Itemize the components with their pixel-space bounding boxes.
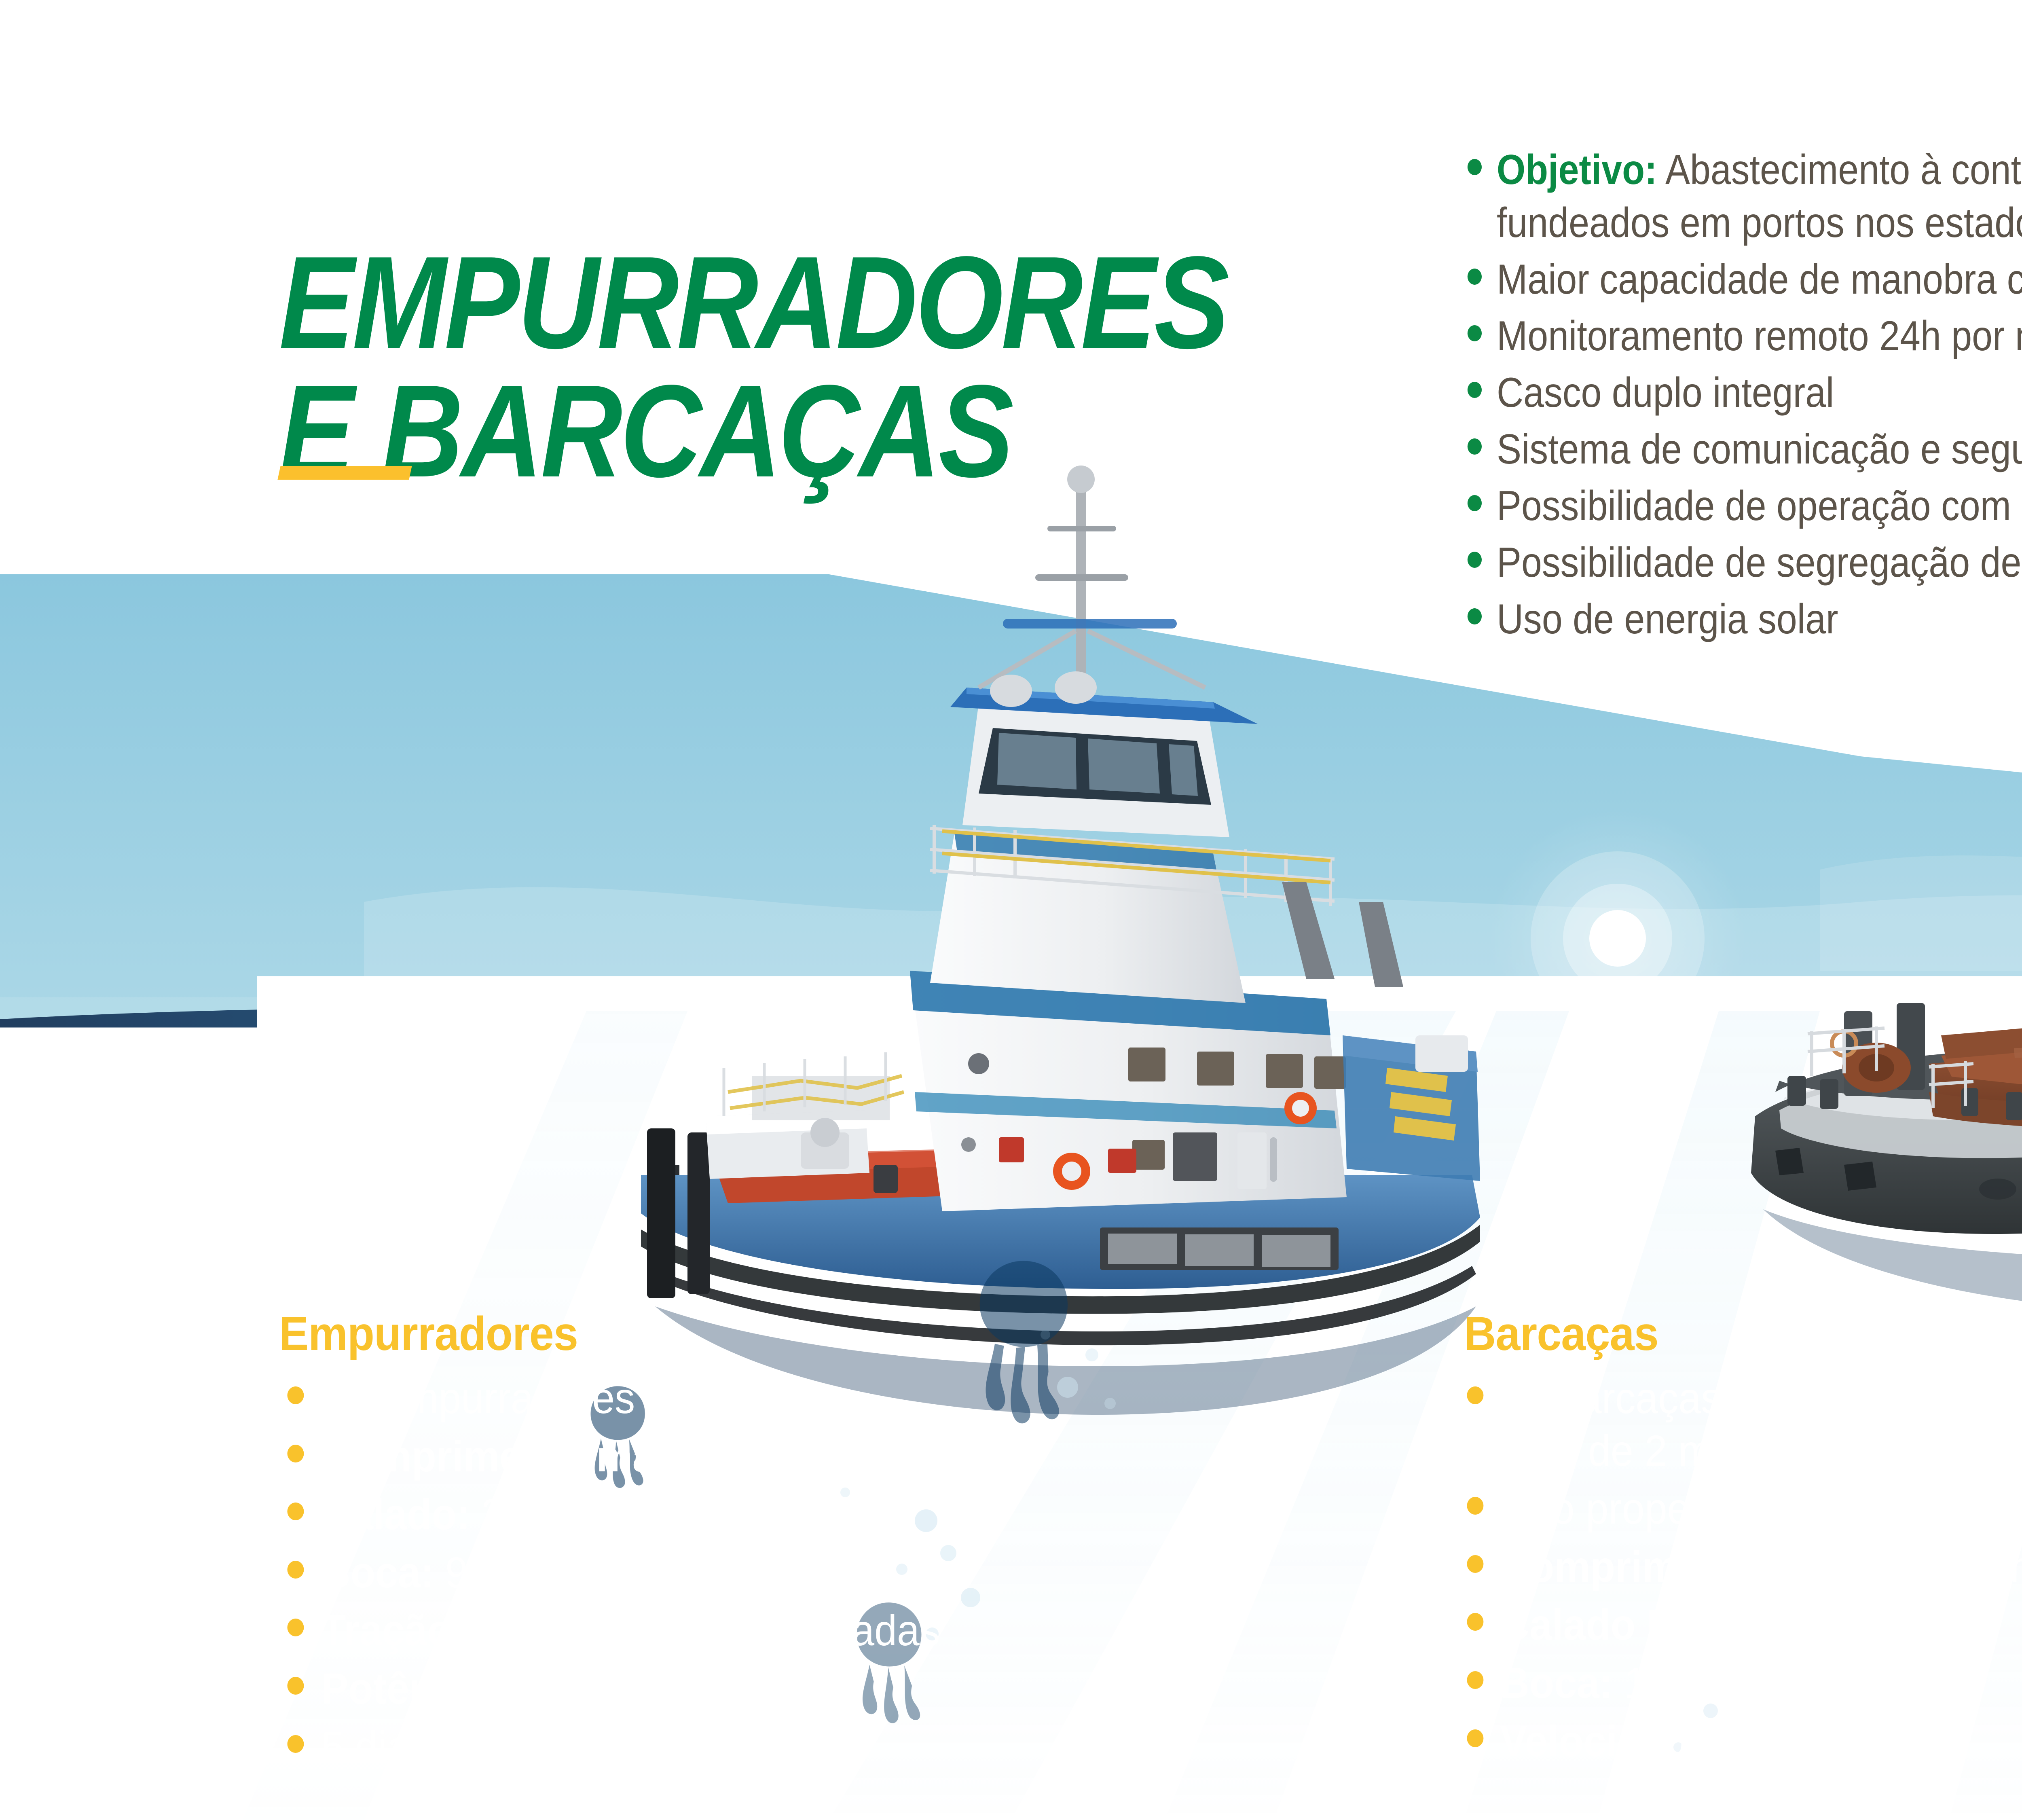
feature-item: Maior capacidade de manobra com menor co… [1464,253,2022,306]
bullet-dot-icon [1468,438,1482,455]
spec-item: Não propelidas [1464,1482,2022,1535]
feature-list: Objetivo: Abastecimento à contrabordo (b… [1464,144,2022,650]
bullet-dot-icon [1467,1613,1483,1631]
feature-item: Monitoramento remoto 24h por meio de GPS [1464,310,2022,363]
bullet-dot-icon [1468,608,1482,624]
feature-item: Casco duplo integral [1464,366,2022,419]
spec-item: 18 Empurradores [279,1372,1407,1424]
spec-value: 16 m [1613,1658,1714,1707]
spec-value: até 13 toneladas [628,1606,940,1655]
spec-label: Boca: [321,1548,434,1597]
spec-column-barcacas: Barcaças 18 barcaças. Dez terão capacida… [1464,1306,2022,1773]
spec-column-title: Empurradores [279,1306,1407,1361]
spec-item: Boca: 16 m [1464,1657,2022,1709]
spec-value: 18 Empurradores [321,1373,635,1422]
spec-value: 6 nós [1726,1716,1836,1765]
title-underline-dash [277,466,412,480]
spec-item: Boca: 9,2 m [279,1546,1407,1599]
bullet-dot-icon [1468,495,1482,511]
feature-item: Uso de energia solar [1464,593,2022,646]
spec-item: Calado Máximo: 4,5 m [1464,1598,2022,1651]
bullet-dot-icon [287,1445,304,1462]
bullet-dot-icon [1467,1497,1483,1515]
bullet-dot-icon [287,1386,304,1404]
spec-value: 5 dias de navegação contínua [321,1722,863,1771]
feature-text: Casco duplo integral [1497,369,1834,416]
bullet-dot-icon [287,1619,304,1636]
spec-value: 18,7 m [764,1432,899,1481]
spec-value: 3,7 m [470,1490,583,1539]
feature-item: Possibilidade de segregação de produtos … [1464,536,2022,589]
bullet-dot-icon [287,1503,304,1520]
infographic-canvas: EMPURRADORES E BARCAÇAS Objetivo: Abaste… [0,0,2022,1820]
feature-text: Possibilidade de segregação de produtos … [1497,539,2022,586]
spec-item: 5 dias de navegação contínua [279,1721,1407,1773]
spec-item: Potência: 450 kW [279,1662,1407,1715]
bullet-dot-icon [1467,1555,1483,1573]
spec-label: Velocidade: [1500,1716,1726,1765]
feature-item: Objetivo: Abastecimento à contrabordo (b… [1464,144,2022,250]
spec-item: Velocidade: 6 nós [1464,1715,2022,1767]
spec-item: Comprimento máximo: 18,7 m [279,1430,1407,1483]
spec-value: 4,5 m [1811,1600,1924,1649]
bullet-dot-icon [287,1561,304,1579]
spec-label: Boca: [1500,1658,1613,1707]
spec-label: Potência: [321,1664,504,1713]
page-title: EMPURRADORES E BARCAÇAS [279,109,1253,624]
bullet-dot-icon [1467,1386,1483,1404]
spec-value: 18 barcaças. Dez terão capacidade de 3 m… [1500,1373,2022,1475]
spec-label: Calado Máximo: [1500,1600,1811,1649]
bullet-dot-icon [1467,1729,1483,1747]
feature-label: Objetivo: [1497,146,1657,193]
bullet-dot-icon [1468,382,1482,398]
spec-column-title: Barcaças [1464,1306,2022,1361]
spec-label: Tração estática: [321,1606,628,1655]
spec-item: 18 barcaças. Dez terão capacidade de 3 m… [1464,1372,2022,1477]
bullet-dot-icon [287,1735,304,1753]
spec-label: Comprimento máximo: [1500,1542,1942,1591]
spec-item: Calado: 3,7 m [279,1488,1407,1541]
page-title-line-2: E BARCAÇAS [279,367,1253,496]
spec-item: Tração estática: até 13 toneladas [279,1604,1407,1657]
bullet-dot-icon [1468,269,1482,285]
spec-label: Calado: [321,1490,470,1539]
bullet-dot-icon [287,1677,304,1695]
spec-column-empurradores: Empurradores 18 Empurradores Comprimento… [279,1306,1492,1778]
bullet-dot-icon [1468,552,1482,568]
spec-value: Não propelidas [1500,1484,1773,1533]
feature-text: Uso de energia solar [1497,596,1838,643]
bullet-dot-icon [1468,325,1482,341]
spec-label: Comprimento máximo: [321,1432,764,1481]
feature-text: Maior capacidade de manobra com menor co… [1497,256,2022,303]
bullet-dot-icon [1468,159,1482,175]
feature-text: Possibilidade de operação com energia el… [1497,483,2022,529]
bullet-dot-icon [1467,1671,1483,1689]
spec-value: 9,2 m [434,1548,547,1597]
feature-item: Sistema de comunicação e segurança em te… [1464,423,2022,476]
page-title-line-1: EMPURRADORES [279,229,1227,376]
spec-value: 70 m [1942,1542,2022,1591]
feature-text: Sistema de comunicação e segurança em te… [1497,426,2022,473]
spec-value: 450 kW [504,1664,653,1713]
spec-item: Comprimento máximo: 70 m [1464,1541,2022,1593]
feature-text: Monitoramento remoto 24h por meio de GPS [1497,313,2022,360]
feature-item: Possibilidade de operação com energia el… [1464,480,2022,533]
